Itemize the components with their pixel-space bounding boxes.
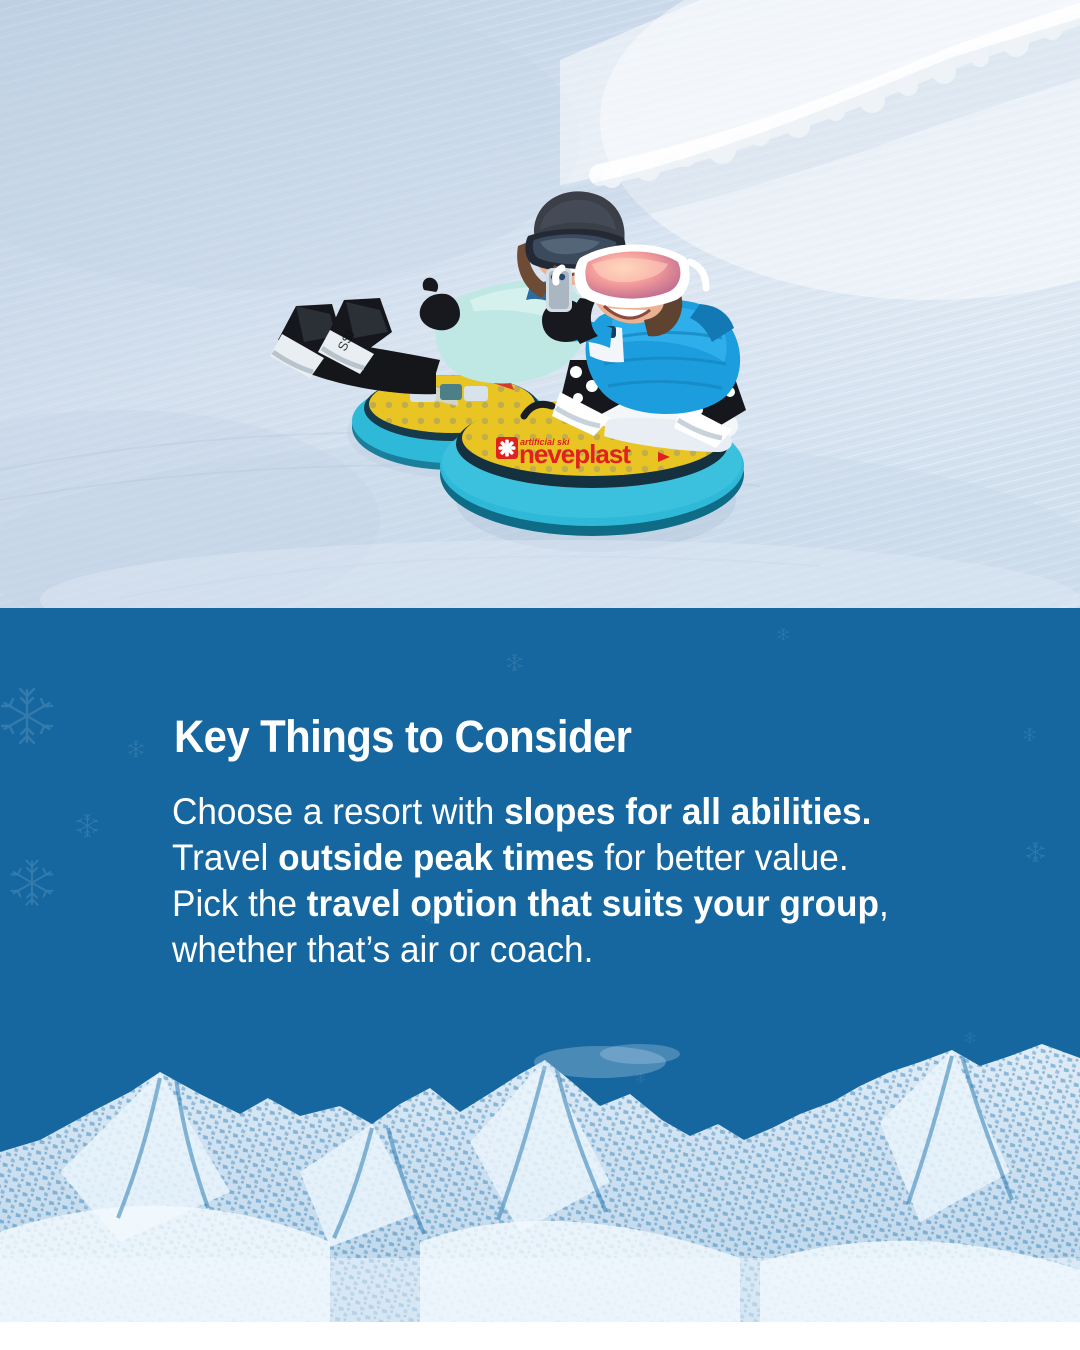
body-copy-line: whether that’s air or coach. xyxy=(172,927,932,973)
copy-block: Key Things to Consider Choose a resort w… xyxy=(172,714,972,973)
body-copy-line: Choose a resort with slopes for all abil… xyxy=(172,789,932,835)
info-panel: Key Things to Consider Choose a resort w… xyxy=(0,608,1080,1322)
poster-root: SSI xyxy=(0,0,1080,1350)
body-copy: Choose a resort with slopes for all abil… xyxy=(172,789,932,973)
body-copy-line: Travel outside peak times for better val… xyxy=(172,835,932,881)
bottom-white-strip xyxy=(0,1322,1080,1350)
body-copy-line: Pick the travel option that suits your g… xyxy=(172,881,932,927)
svg-text:neveplast: neveplast xyxy=(519,439,631,469)
page-title: Key Things to Consider xyxy=(174,714,916,759)
snow-tubing-photo: SSI xyxy=(0,0,1080,608)
